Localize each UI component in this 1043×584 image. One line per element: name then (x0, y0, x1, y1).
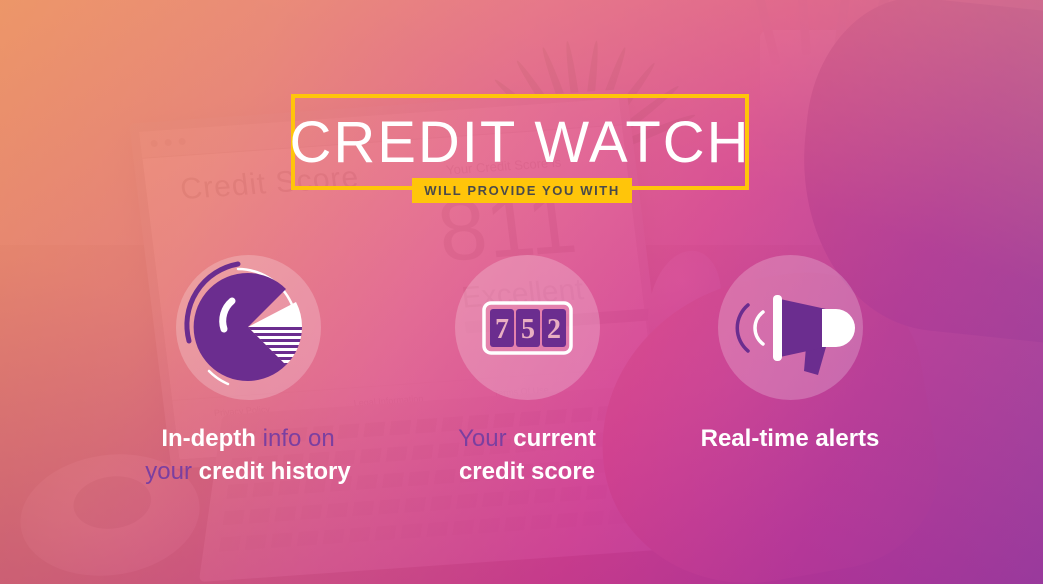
page-title: CREDIT WATCH (291, 94, 749, 190)
score-digit-3: 2 (547, 314, 561, 345)
feature-item-alerts[interactable]: Real-time alerts (645, 255, 935, 455)
caption-bold-1: In-depth (161, 425, 256, 452)
caption-plain-2: your (145, 458, 198, 485)
score-digit-2: 5 (521, 314, 535, 345)
credit-score-digits-icon: 7 5 2 (455, 255, 600, 400)
feature-item-credit-score[interactable]: 7 5 2 Your current credit score (382, 255, 672, 488)
caption-bold-1: current (513, 425, 596, 452)
feature-item-credit-history[interactable]: In-depth info on your credit history (103, 255, 393, 488)
feature-caption: In-depth info on your credit history (103, 422, 393, 488)
megaphone-icon (718, 255, 863, 400)
icon-backdrop-circle: 7 5 2 (455, 255, 600, 400)
caption-plain-1: Your (458, 425, 513, 452)
caption-bold-2: credit score (459, 458, 595, 485)
pie-chart-icon (176, 255, 321, 400)
subtitle-text: WILL PROVIDE YOU WITH (424, 183, 620, 198)
caption-bold-2: credit history (199, 458, 351, 485)
icon-backdrop-circle (176, 255, 321, 400)
feature-caption: Your current credit score (382, 422, 672, 488)
caption-bold-1: Real-time alerts (701, 425, 880, 452)
score-digit-1: 7 (495, 314, 509, 345)
feature-caption: Real-time alerts (645, 422, 935, 455)
caption-plain-1: info on (256, 425, 335, 452)
icon-backdrop-circle (718, 255, 863, 400)
subtitle-band: WILL PROVIDE YOU WITH (412, 178, 632, 203)
slide-canvas: Credit Score Your Credit Score is 811 Ex… (0, 0, 1043, 584)
